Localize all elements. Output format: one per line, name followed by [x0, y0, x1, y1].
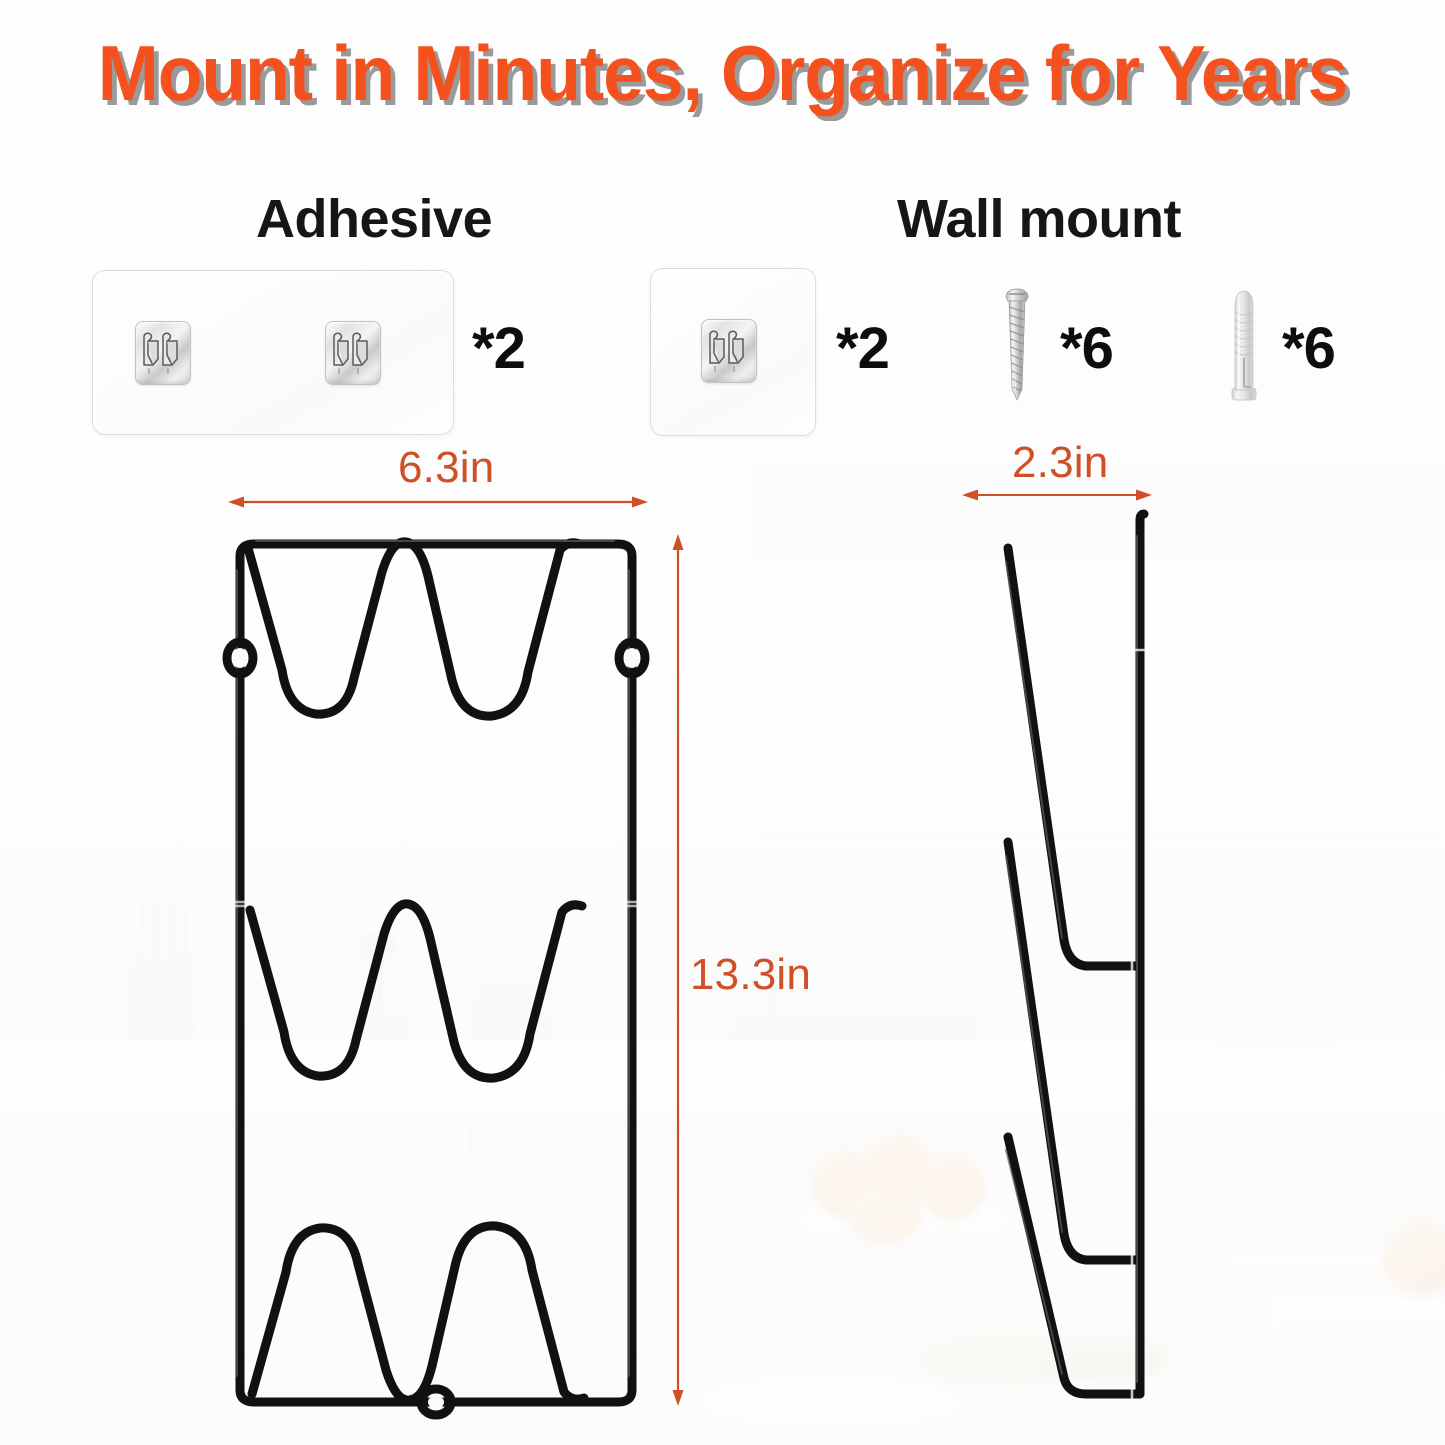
count-label-adhesive-pad-square: *2 — [836, 315, 889, 382]
product-front-view — [196, 510, 676, 1420]
count-label-adhesive-pad-wide: *2 — [472, 315, 525, 382]
background-blur-shape — [1180, 960, 1380, 1050]
adhesive-pad-wide — [92, 270, 454, 435]
dimension-label-depth: 2.3in — [1012, 438, 1108, 488]
count-label-wall-anchor: *6 — [1282, 315, 1335, 382]
adhesive-pad-square — [650, 268, 816, 436]
hook-pair-icon — [706, 327, 754, 377]
background-egg — [916, 1152, 986, 1220]
background-bowl — [700, 1380, 960, 1428]
product-side-view — [980, 492, 1200, 1427]
page-title-text: Mount in Minutes, Organize for Years — [98, 29, 1347, 117]
mounting-eyelet — [421, 1389, 451, 1415]
background-cutting-board — [1270, 1300, 1445, 1340]
background-knife — [181, 906, 188, 962]
rack-front-wireframe — [196, 510, 676, 1420]
wall-anchor-icon — [1226, 288, 1266, 402]
adhesive-hook-plate-icon — [135, 321, 191, 385]
rack-side-wireframe — [980, 492, 1200, 1427]
hook-pair-icon — [330, 329, 378, 379]
adhesive-hook-plate-icon — [701, 319, 757, 383]
hook-pair-icon — [140, 329, 188, 379]
background-knife — [168, 898, 175, 962]
dimension-label-width: 6.3in — [398, 443, 494, 493]
page-title: Mount in Minutes, Organize for Years — [43, 34, 1401, 112]
adhesive-hook-plate-icon — [325, 321, 381, 385]
count-label-screw: *6 — [1060, 315, 1113, 382]
background-egg — [846, 1186, 922, 1244]
section-label-wall-mount: Wall mount — [897, 188, 1181, 250]
dimension-arrow-width — [228, 492, 648, 512]
background-onion — [1382, 1220, 1445, 1294]
section-label-adhesive: Adhesive — [256, 188, 492, 250]
background-knife — [140, 900, 147, 962]
dimension-label-height: 13.3in — [690, 950, 811, 1000]
background-knife — [154, 892, 161, 962]
screw-icon — [1000, 288, 1044, 404]
